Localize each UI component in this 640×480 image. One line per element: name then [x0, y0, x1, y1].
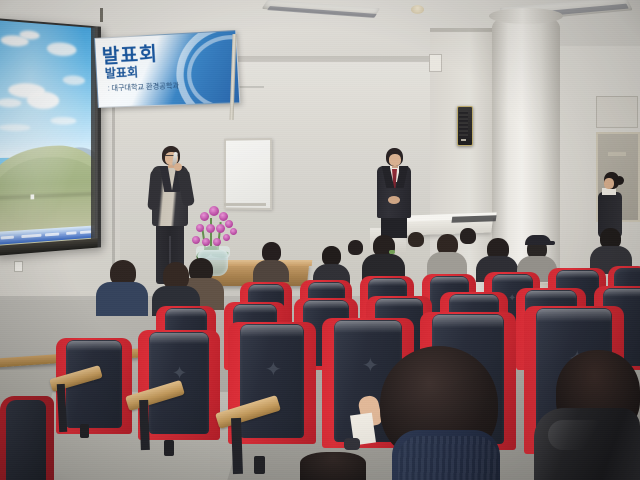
seat-caster: [164, 440, 174, 456]
event-banner: 발표회 발표회 : 대구대학교 환경공학과: [94, 30, 240, 108]
seat-caster: [80, 424, 89, 438]
flower-vase: [198, 250, 228, 276]
seat-back: [6, 400, 46, 480]
audience-head: [300, 452, 366, 480]
wall-panel: [596, 96, 638, 128]
whiteboard: [224, 138, 272, 210]
column-base-shadow: [494, 282, 558, 294]
door-panel[interactable]: [596, 132, 640, 222]
ceiling-light-fixture: [100, 0, 173, 7]
projection-screen: [0, 18, 101, 256]
round-column: [492, 12, 560, 297]
speaker-led-icon: [461, 139, 466, 141]
door-handle-icon[interactable]: [608, 152, 626, 156]
ceiling-dome-light-icon: [411, 5, 424, 14]
column-capital: [489, 8, 563, 24]
auditorium-photo: 발표회 발표회 : 대구대학교 환경공학과: [0, 0, 640, 480]
wall-box-icon: [429, 54, 442, 72]
whiteboard-tray: [224, 203, 266, 206]
banner-affiliation: : 대구대학교 환경공학과: [107, 81, 179, 94]
speaker-mesh: [459, 110, 468, 138]
seat-platform: [27, 392, 252, 480]
screen-mount: [100, 8, 103, 22]
wall-pillar-top-edge: [430, 28, 496, 32]
wall-outlet-icon: [14, 261, 23, 272]
banner-subtitle: 발표회: [104, 63, 138, 82]
seat-caster: [254, 456, 265, 474]
podium: [370, 228, 406, 254]
screen-glare: [0, 20, 95, 246]
projected-image: [0, 20, 95, 246]
